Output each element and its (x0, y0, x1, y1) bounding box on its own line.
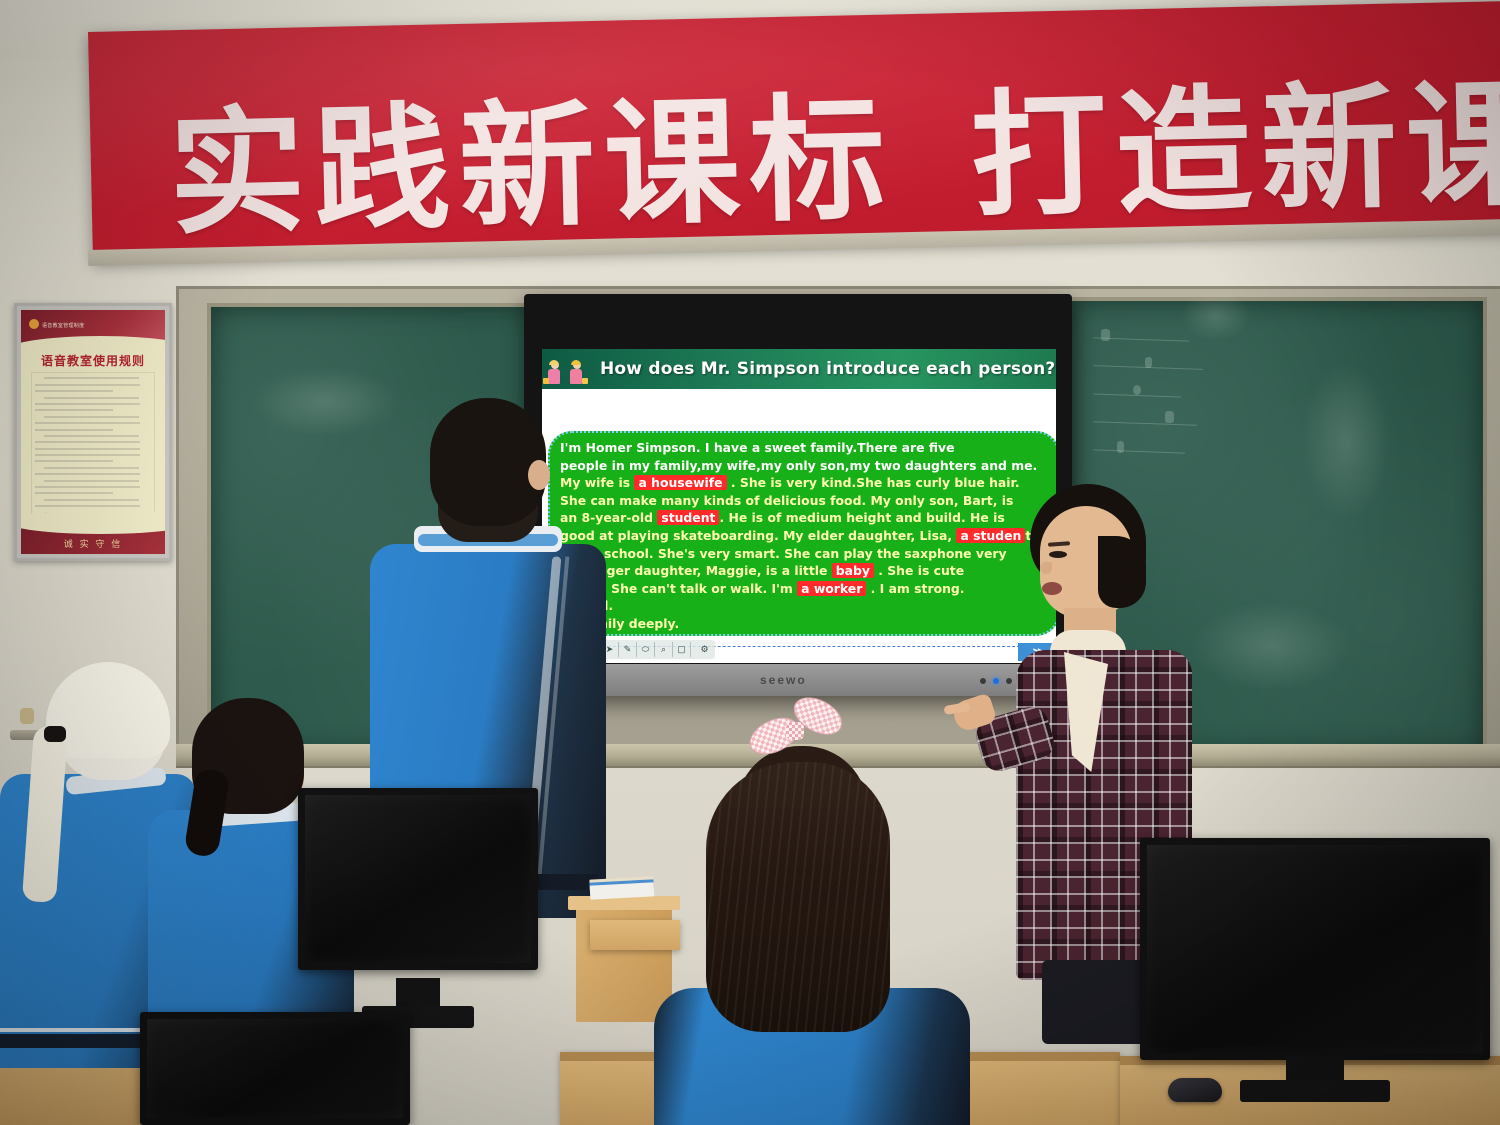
slide-header: How does Mr. Simpson introduce each pers… (542, 349, 1056, 389)
slide-line: people in my family,my wife,my only son,… (560, 457, 1050, 475)
poster-rules-text (31, 372, 155, 520)
banner-text-left: 实践新课标 (167, 48, 896, 261)
slide-paragraph: I'm Homer Simpson. I have a sweet family… (560, 439, 1050, 633)
slide-text-run: . I am strong. (866, 581, 964, 596)
whiteboard-brand-label: seewo (760, 673, 807, 687)
highlighted-answer: a worker (797, 581, 866, 596)
highlighted-answer: student (657, 510, 719, 525)
led-1 (980, 678, 986, 684)
monitor-left-screen (298, 788, 538, 970)
cartoon-kids-icon (546, 352, 600, 386)
slide-line: imary school. She's very smart. She can … (560, 545, 1050, 563)
slide-text-run: . She is very kind.She has curly blue ha… (727, 475, 1020, 490)
poster-footer: 诚 实 守 信 (21, 522, 165, 554)
slide-line: ce well. (560, 597, 1050, 615)
eraser-icon[interactable]: ⬭ (637, 642, 655, 657)
monitor-right: 凡龙科技 (1140, 838, 1490, 1060)
highlighted-answer: a housewife (634, 475, 726, 490)
slide-text-run: . She is cute (874, 563, 964, 578)
slide-line: rt hair. She can't talk or walk. I'm a w… (560, 580, 1050, 598)
slide-line: My wife is a housewife . She is very kin… (560, 474, 1050, 492)
slide-text-run: imary school. She's very smart. She can … (560, 546, 1007, 561)
magnifier-icon[interactable]: ⌕ (655, 642, 673, 657)
poster-title: 语音教室使用规则 (21, 352, 165, 369)
poster-logo-dot (29, 319, 39, 329)
highlighted-answer: baby (832, 563, 874, 578)
slide-line: y younger daughter, Maggie, is a little … (560, 562, 1050, 580)
slide-text-run: . He is of medium height and build. He i… (719, 510, 1004, 525)
slide-line: good at playing skateboarding. My elder … (560, 527, 1050, 545)
poster-footer-text: 诚 实 守 信 (21, 537, 165, 550)
led-2 (993, 678, 999, 684)
slide-line: She can make many kinds of delicious foo… (560, 492, 1050, 510)
hair-bow (752, 698, 844, 758)
wall-poster: 语音教室管理制度 语音教室使用规则 诚 实 守 信 (14, 303, 172, 561)
settings-icon[interactable]: ⚙ (696, 642, 713, 657)
monitor-front-left-screen (140, 1012, 410, 1125)
monitor-left: 凡龙科技 (298, 788, 538, 970)
screen-icon[interactable]: ▢ (673, 642, 691, 657)
slide-line: ny family deeply. (560, 615, 1050, 633)
slide-text-run: She can make many kinds of delicious foo… (560, 493, 1013, 508)
slide-line: an 8-year-old student. He is of medium h… (560, 509, 1050, 527)
monitor-front-left (140, 1012, 410, 1125)
computer-mouse[interactable] (1168, 1078, 1222, 1102)
slide-line: I'm Homer Simpson. I have a sweet family… (560, 439, 1050, 457)
monitor-right-screen (1140, 838, 1490, 1060)
classroom-photo: 实践新课标 打造新课 语音教室管理制度 语音教室使用规则 (0, 0, 1500, 1125)
slide-green-textbox: I'm Homer Simpson. I have a sweet family… (548, 431, 1056, 636)
poster-header: 语音教室管理制度 (21, 310, 165, 350)
banner-text-right: 打造新课 (969, 34, 1500, 244)
poster-org-logo: 语音教室管理制度 (29, 319, 84, 329)
slide-text-run: people in my family,my wife,my only son,… (560, 458, 1037, 473)
slide-title: How does Mr. Simpson introduce each pers… (600, 359, 1055, 379)
student-center-front (640, 688, 970, 1125)
poster-paper: 语音教室管理制度 语音教室使用规则 诚 实 守 信 (21, 310, 165, 554)
monitor-right-base (1240, 1080, 1390, 1102)
poster-org-label: 语音教室管理制度 (42, 323, 84, 329)
